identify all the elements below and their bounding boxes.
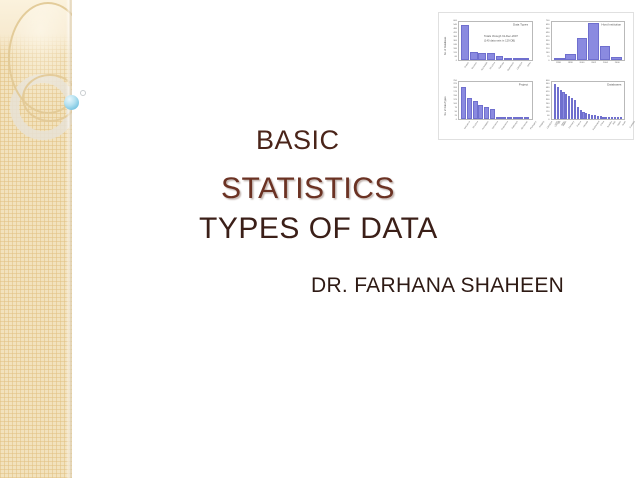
chart-3-plot-area: Databases (551, 81, 626, 121)
presentation-slide: BASIC STATISTICS TYPES OF DATA DR. FARHA… (0, 0, 638, 478)
bar (605, 117, 607, 119)
bar (565, 94, 567, 119)
bar (597, 116, 599, 119)
axis-tick-label: 2002 (588, 62, 600, 75)
axis-tick-label: 700 (546, 20, 550, 22)
axis-tick-label: 350 (546, 40, 550, 42)
bar (588, 23, 599, 59)
axis-tick-label: 240 (546, 103, 550, 105)
bar (496, 117, 501, 119)
axis-tick-label: 420 (546, 91, 550, 93)
bar (554, 84, 556, 119)
chart-panel-data-types: No. of Databases 06012018024030036042048… (445, 18, 535, 75)
title-line-basic: BASIC (256, 125, 340, 156)
axis-tick-label: 50 (455, 111, 457, 113)
title-line-statistics: STATISTICS (221, 172, 395, 206)
axis-tick-label: 125 (453, 99, 457, 101)
axis-tick-label: 420 (453, 32, 457, 34)
bar (557, 87, 559, 120)
axis-tick-label: 210 (546, 48, 550, 50)
axis-tick-label: 300 (453, 40, 457, 42)
bar (487, 53, 495, 59)
bar (513, 117, 518, 119)
axis-tick-label: 140 (546, 51, 550, 53)
bar (614, 117, 616, 119)
axis-tick-label: 600 (453, 20, 457, 22)
bar (461, 25, 469, 59)
axis-tick-label: 480 (453, 28, 457, 30)
bar (600, 116, 602, 119)
bar (470, 52, 478, 60)
axis-tick-label: 0 (456, 59, 457, 61)
bar (582, 112, 584, 120)
author-name: DR. FARHANA SHAHEEN (311, 274, 564, 298)
axis-tick-label: 2004 (600, 62, 612, 75)
bar (461, 87, 466, 119)
bar (611, 57, 622, 59)
axis-tick-label: 280 (546, 44, 550, 46)
bar (473, 101, 478, 119)
chart-panel-databases: 060120180240300360420480540600 Databases… (538, 78, 628, 135)
axis-tick-label: 0 (548, 119, 549, 121)
chart-3-xticks: USAUKJapanGermanyFranceCanadaSwitzerland… (551, 120, 626, 134)
chart-0-bars (459, 22, 532, 60)
axis-tick-label: 420 (546, 36, 550, 38)
chart-1-xticks: 199619982000200220042006 (551, 61, 626, 75)
axis-tick-label: 120 (546, 111, 550, 113)
bar (565, 54, 576, 59)
axis-tick-label: Australia (629, 121, 638, 135)
axis-tick-label: 600 (546, 79, 550, 81)
bar (577, 38, 588, 60)
bar (611, 117, 613, 119)
chart-1-yticks: 070140210280350420490560630700 (538, 21, 551, 61)
axis-tick-label: 2006 (611, 62, 623, 75)
bar (580, 110, 582, 119)
axis-tick-label: 70 (547, 55, 549, 57)
bar (518, 117, 523, 119)
axis-tick-label: 180 (546, 107, 550, 109)
bar (478, 53, 486, 59)
bar (496, 56, 504, 60)
bar (574, 100, 576, 119)
chart-2-plot-area: Project (458, 81, 533, 121)
chart-0-plot-area: Data Types Totals through 31-Dec-2007 (1… (458, 21, 533, 61)
chart-panel-host-institution: 070140210280350420490560630700 Host Inst… (538, 18, 628, 75)
statistics-bar-charts-figure: No. of Databases 06012018024030036042048… (438, 12, 634, 140)
bar (600, 46, 611, 59)
axis-tick-label: 100 (453, 103, 457, 105)
bar (560, 90, 562, 119)
axis-tick-label: 1996 (553, 62, 565, 75)
axis-tick-label: 2000 (576, 62, 588, 75)
bar (620, 117, 622, 119)
bar (588, 114, 590, 119)
axis-tick-label: 250 (453, 79, 457, 81)
bar (521, 58, 529, 60)
bar (513, 58, 521, 60)
axis-tick-label: 150 (453, 95, 457, 97)
bar (467, 98, 472, 119)
bar (602, 117, 604, 120)
bar (507, 117, 512, 119)
chart-2-bars (459, 82, 532, 120)
bar (501, 117, 506, 119)
chart-3-yticks: 060120180240300360420480540600 (538, 81, 551, 121)
subtitle-types-of-data: TYPES OF DATA (199, 212, 438, 246)
chart-panel-project: No. of Data Types 0255075100125150175200… (445, 78, 535, 135)
axis-tick-label: 560 (546, 28, 550, 30)
bar (524, 117, 529, 119)
bar (568, 96, 570, 119)
bar (608, 117, 610, 119)
figure-grid: No. of Databases 06012018024030036042048… (445, 18, 627, 134)
axis-tick-label: 225 (453, 83, 457, 85)
axis-tick-label: 25 (455, 115, 457, 117)
axis-tick-label: 60 (547, 115, 549, 117)
bar (591, 115, 593, 119)
axis-tick-label: 480 (546, 87, 550, 89)
chart-0-xticks: ProteinGenomicNucleotideStructurePathway… (458, 61, 533, 75)
axis-tick-label: 60 (455, 55, 457, 57)
bar (490, 109, 495, 120)
bar (554, 58, 565, 60)
chart-0-yticks: 060120180240300360420480540600 (445, 21, 458, 61)
axis-tick-label: 240 (453, 44, 457, 46)
bar (617, 117, 619, 119)
axis-tick-label: 0 (548, 59, 549, 61)
decorative-sidebar (0, 0, 72, 478)
axis-tick-label: 360 (546, 95, 550, 97)
bar (594, 115, 596, 119)
axis-tick-label: 200 (453, 87, 457, 89)
bar (478, 105, 483, 119)
chart-1-plot-area: Host Institution (551, 21, 626, 61)
bar (484, 107, 489, 119)
axis-tick-label: 0 (456, 119, 457, 121)
axis-tick-label: 630 (546, 24, 550, 26)
axis-tick-label: 1998 (564, 62, 576, 75)
axis-tick-label: 300 (546, 99, 550, 101)
axis-tick-label: 540 (546, 83, 550, 85)
axis-tick-label: 120 (453, 51, 457, 53)
chart-2-yticks: 0255075100125150175200225250 (445, 81, 458, 121)
axis-tick-label: 490 (546, 32, 550, 34)
chart-3-bars (552, 82, 625, 120)
bar (577, 107, 579, 120)
bar (585, 113, 587, 119)
axis-tick-label: 75 (455, 107, 457, 109)
axis-tick-label: 180 (453, 48, 457, 50)
axis-tick-label: 540 (453, 24, 457, 26)
chart-2-xticks: SequenceStructureAnnotationGenomicsProte… (458, 120, 533, 134)
bar (504, 58, 512, 60)
axis-tick-label: 360 (453, 36, 457, 38)
chart-1-bars (552, 22, 625, 60)
axis-tick-label: 175 (453, 91, 457, 93)
bar (562, 92, 564, 119)
bar (571, 98, 573, 119)
